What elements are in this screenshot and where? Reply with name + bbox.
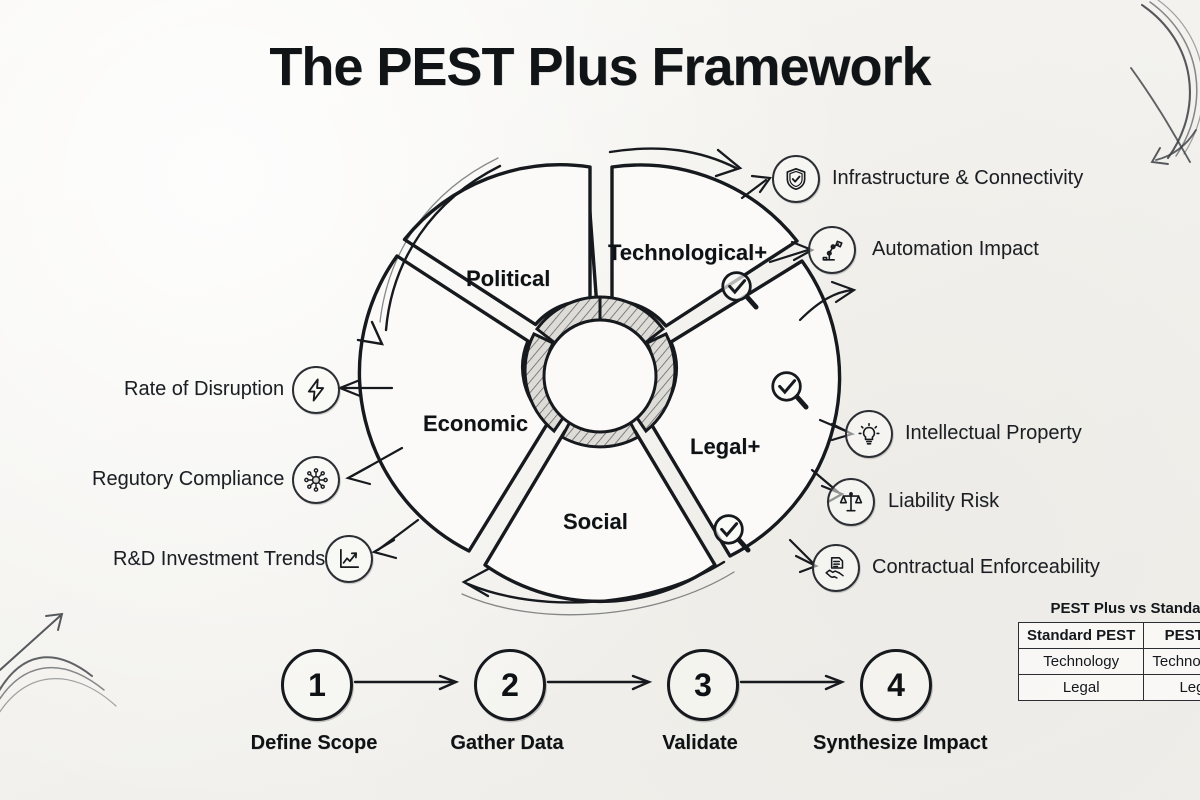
step-circle-1[interactable]: 1	[281, 649, 353, 721]
step-circle-3[interactable]: 3	[667, 649, 739, 721]
comparison-table-header-row: Standard PEST PEST Plus	[1019, 623, 1200, 649]
comparison-table[interactable]: PEST Plus vs Standard Standard PEST PEST…	[1018, 600, 1200, 701]
comparison-table-caption: PEST Plus vs Standard	[1018, 600, 1200, 617]
comparison-cell-0-1: Technological+	[1144, 649, 1200, 675]
comparison-cell-1-1: Legal+	[1144, 675, 1200, 701]
comparison-col-plus: PEST Plus	[1144, 623, 1200, 649]
step-circle-4[interactable]: 4	[860, 649, 932, 721]
step-label-4[interactable]: Synthesize Impact	[813, 732, 973, 755]
step-label-1[interactable]: Define Scope	[244, 732, 384, 755]
step-label-2[interactable]: Gather Data	[437, 732, 577, 755]
comparison-cell-0-0: Technology	[1019, 649, 1144, 675]
comparison-col-standard: Standard PEST	[1019, 623, 1144, 649]
comparison-cell-1-0: Legal	[1019, 675, 1144, 701]
step-label-3[interactable]: Validate	[630, 732, 770, 755]
table-row: Legal Legal+	[1019, 675, 1200, 701]
table-row: Technology Technological+	[1019, 649, 1200, 675]
step-circle-2[interactable]: 2	[474, 649, 546, 721]
